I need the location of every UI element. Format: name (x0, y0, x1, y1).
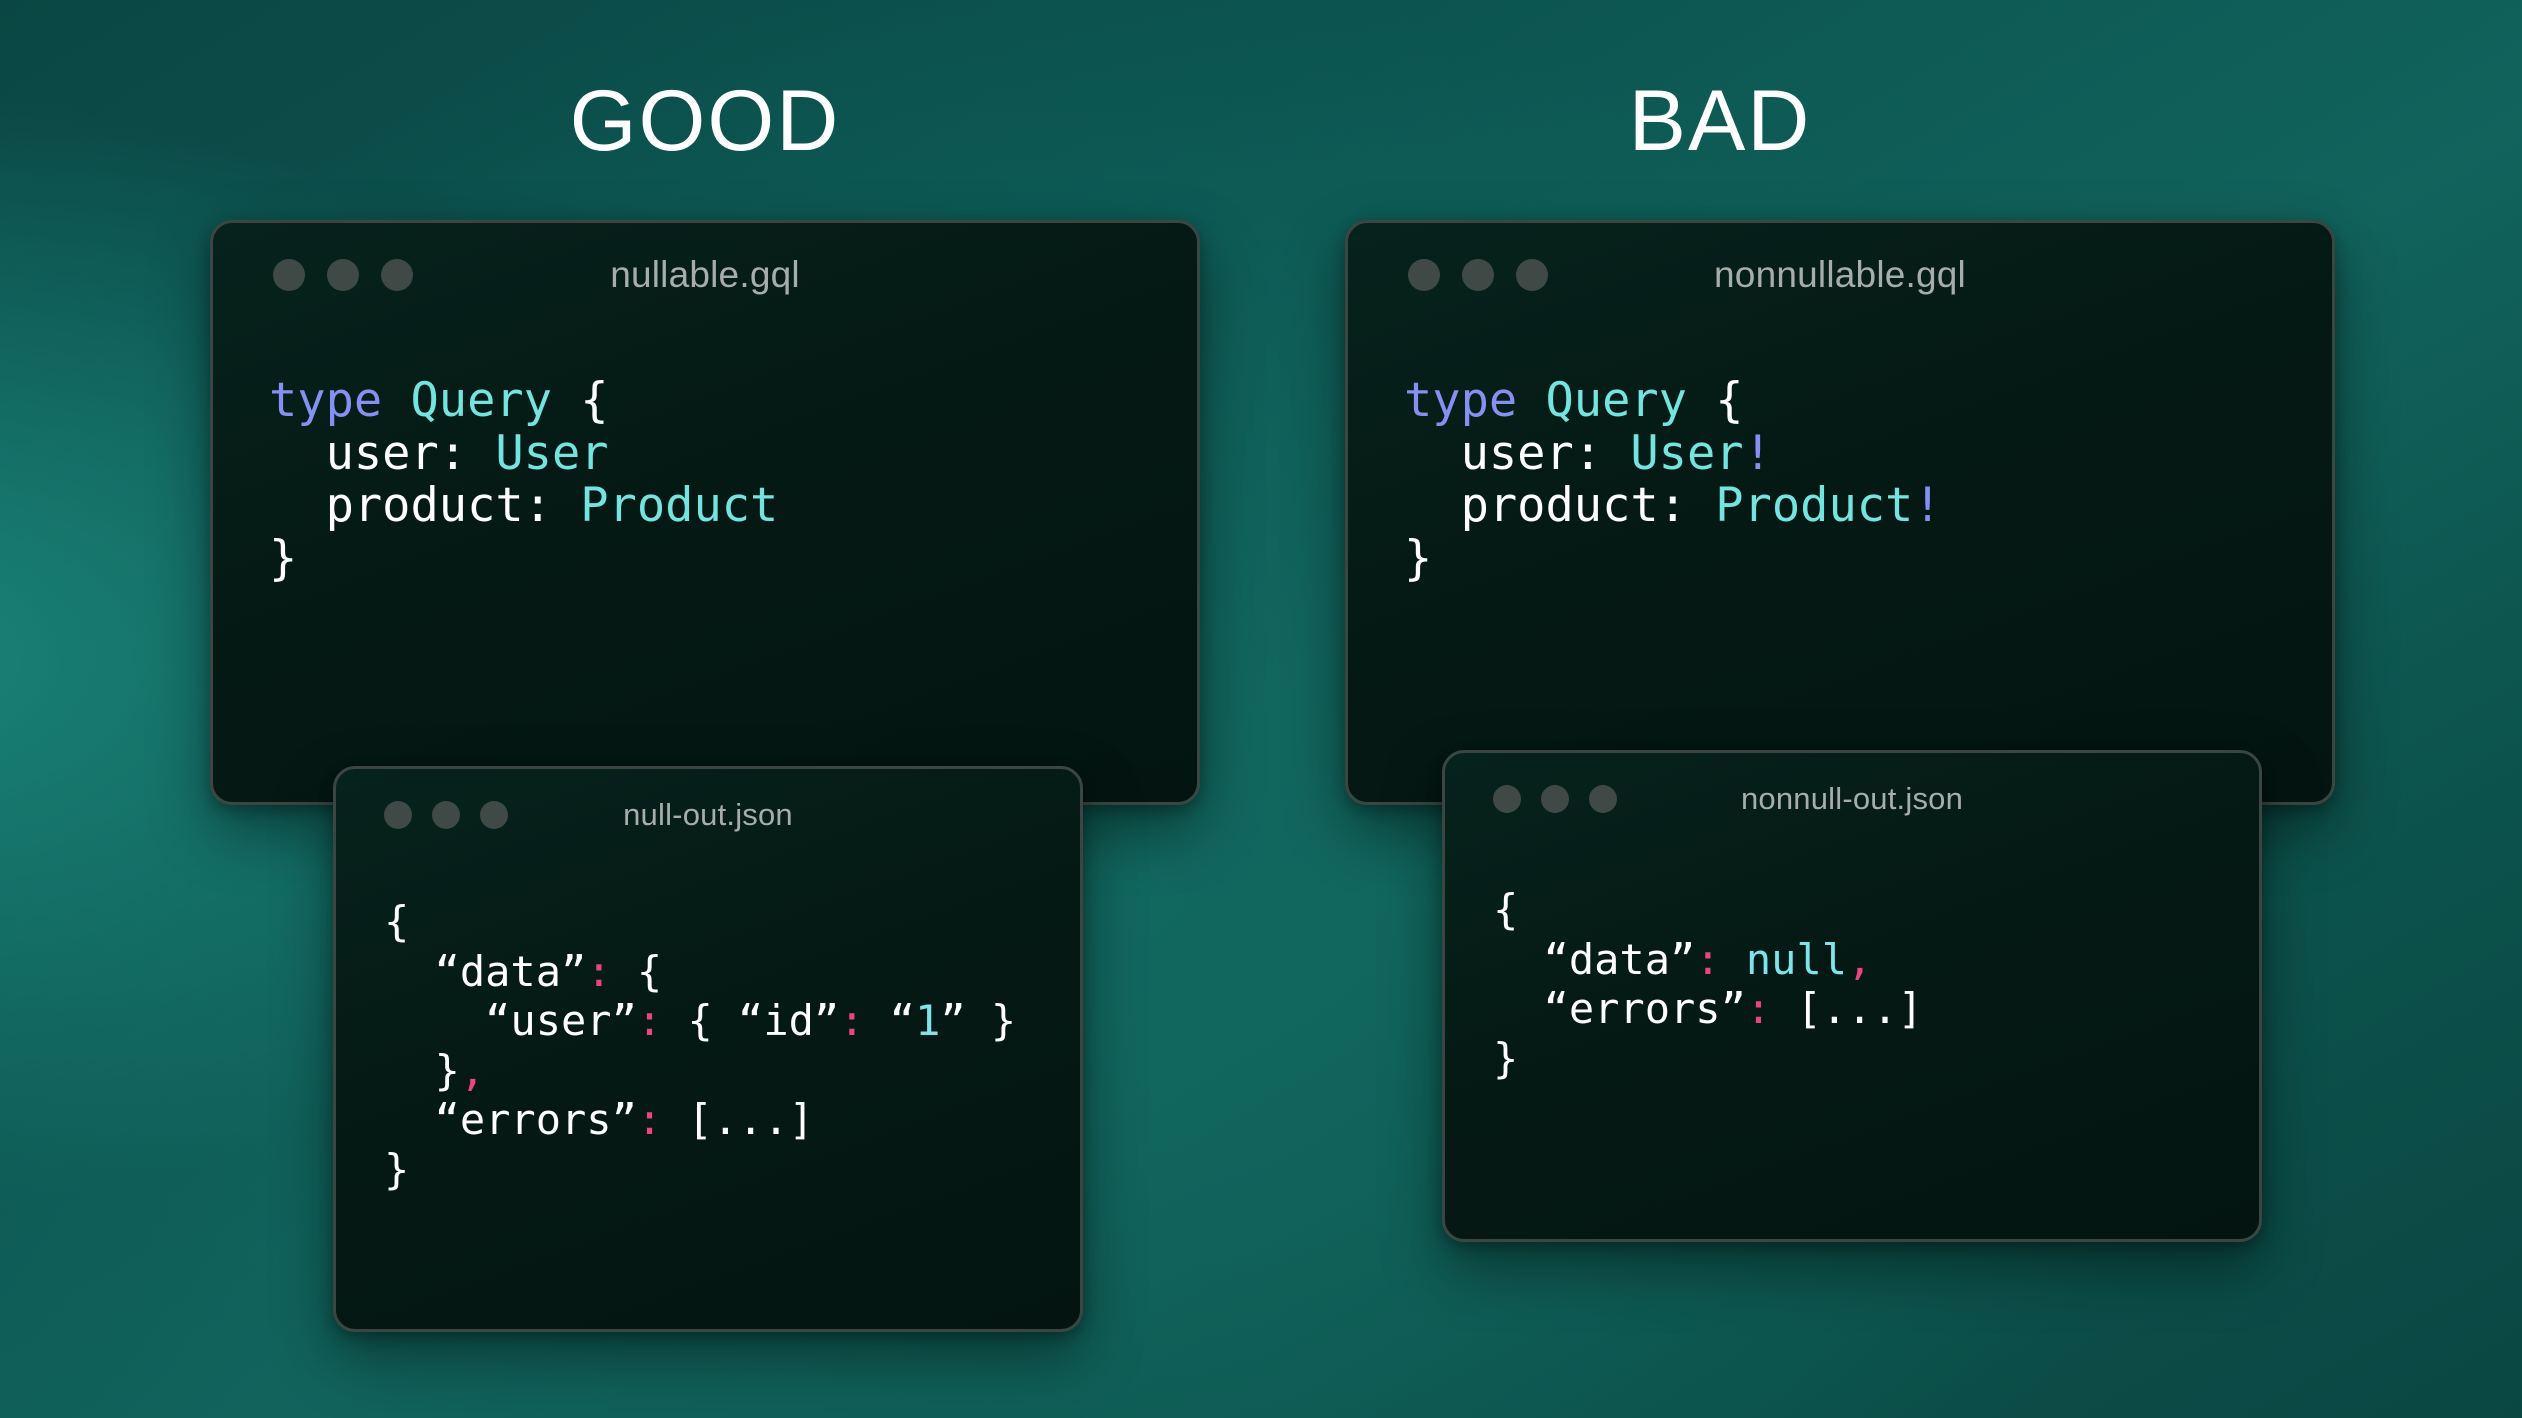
window-titlebar: nonnullable.gql (1348, 223, 2332, 327)
window-title: nonnull-out.json (1445, 781, 2259, 817)
window-titlebar: nullable.gql (213, 223, 1197, 327)
code-line: “user”: { “id”: “1” } (384, 996, 1080, 1046)
code-line: { (1493, 885, 2259, 935)
code-token: ” } (940, 996, 1016, 1045)
code-token: { (384, 897, 409, 946)
code-token: “errors” (1493, 984, 1746, 1033)
code-token: type (269, 373, 382, 428)
code-token: Query (410, 373, 551, 428)
code-token: { “id” (662, 996, 839, 1045)
code-line: user: User (269, 428, 1197, 481)
code-token: Product (580, 478, 778, 533)
code-token: null (1746, 935, 1847, 984)
window-titlebar: null-out.json (336, 769, 1080, 861)
code-token: { (552, 373, 609, 428)
code-token: : (839, 996, 864, 1045)
code-line: “data”: { (384, 947, 1080, 997)
code-line: “data”: null, (1493, 935, 2259, 985)
code-token: Product (1715, 478, 1913, 533)
code-token: product: (1404, 478, 1715, 533)
code-token: [...] (662, 1095, 814, 1144)
window-title: nonnullable.gql (1348, 254, 2332, 296)
code-token: , (1847, 935, 1872, 984)
code-token: : (1746, 984, 1771, 1033)
code-token: ! (1744, 426, 1772, 481)
code-token: “data” (384, 947, 586, 996)
code-token: User (1630, 426, 1743, 481)
code-token: } (269, 531, 297, 586)
code-token: “ (864, 996, 915, 1045)
code-token: type (1404, 373, 1517, 428)
code-line: }, (384, 1046, 1080, 1096)
code-line: “errors”: [...] (384, 1095, 1080, 1145)
code-token: user: (269, 426, 495, 481)
code-token: : (586, 947, 611, 996)
code-token: { (1493, 885, 1518, 934)
code-window-nonnullable-gql: nonnullable.gql type Query { user: User!… (1345, 220, 2335, 805)
code-token: : (637, 996, 662, 1045)
code-token (1517, 373, 1545, 428)
column-heading-good: GOOD (330, 78, 1080, 164)
code-line: user: User! (1404, 428, 2332, 481)
window-title: null-out.json (336, 797, 1080, 833)
code-token: } (1404, 531, 1432, 586)
code-token (382, 373, 410, 428)
code-token: } (384, 1145, 409, 1194)
code-token: : (637, 1095, 662, 1144)
code-token: 1 (915, 996, 940, 1045)
code-token: product: (269, 478, 580, 533)
code-line: } (1493, 1034, 2259, 1084)
code-token: Query (1545, 373, 1686, 428)
code-token (1721, 935, 1746, 984)
code-token: [...] (1771, 984, 1923, 1033)
code-token: “data” (1493, 935, 1695, 984)
code-block: type Query { user: User product: Product… (213, 375, 1197, 586)
window-titlebar: nonnull-out.json (1445, 753, 2259, 845)
column-heading-bad: BAD (1345, 78, 2095, 164)
code-line: product: Product! (1404, 480, 2332, 533)
code-block: type Query { user: User! product: Produc… (1348, 375, 2332, 586)
code-window-nullable-gql: nullable.gql type Query { user: User pro… (210, 220, 1200, 805)
code-block: { “data”: { “user”: { “id”: “1” } }, “er… (336, 897, 1080, 1194)
code-line: type Query { (1404, 375, 2332, 428)
code-window-null-out-json: null-out.json { “data”: { “user”: { “id”… (333, 766, 1083, 1332)
code-token: “user” (384, 996, 637, 1045)
code-window-nonnull-out-json: nonnull-out.json { “data”: null, “errors… (1442, 750, 2262, 1242)
code-line: } (269, 533, 1197, 586)
code-line: type Query { (269, 375, 1197, 428)
window-title: nullable.gql (213, 254, 1197, 296)
code-token: } (1493, 1034, 1518, 1083)
code-line: product: Product (269, 480, 1197, 533)
code-token: { (612, 947, 663, 996)
code-line: { (384, 897, 1080, 947)
code-token: : (1695, 935, 1720, 984)
code-line: “errors”: [...] (1493, 984, 2259, 1034)
code-token: { (1687, 373, 1744, 428)
code-line: } (384, 1145, 1080, 1195)
code-token: } (384, 1046, 460, 1095)
code-token: , (460, 1046, 485, 1095)
code-token: ! (1913, 478, 1941, 533)
code-token: user: (1404, 426, 1630, 481)
code-line: } (1404, 533, 2332, 586)
code-token: “errors” (384, 1095, 637, 1144)
code-block: { “data”: null, “errors”: [...]} (1445, 885, 2259, 1083)
code-token: User (495, 426, 608, 481)
